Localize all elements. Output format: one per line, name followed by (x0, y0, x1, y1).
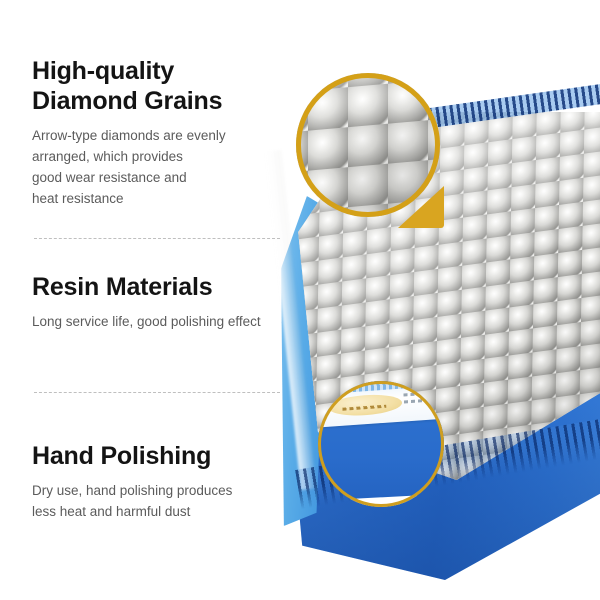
feature-body: Dry use, hand polishing produces less he… (32, 480, 280, 522)
label-text-line (404, 398, 434, 403)
feature-body: Arrow-type diamonds are evenly arranged,… (32, 125, 280, 209)
feature-block-diamond-grains: High-quality Diamond Grains Arrow-type d… (32, 56, 280, 209)
feature-block-resin-materials: Resin Materials Long service life, good … (32, 272, 280, 332)
feature-block-hand-polishing: Hand Polishing Dry use, hand polishing p… (32, 441, 280, 522)
feature-text-column: High-quality Diamond Grains Arrow-type d… (0, 0, 300, 600)
label-text-line (403, 391, 441, 397)
feature-heading: High-quality Diamond Grains (32, 56, 280, 116)
callout-grain-closeup (296, 73, 440, 217)
feature-heading: Hand Polishing (32, 441, 280, 471)
magnifier-gloss (296, 73, 440, 217)
section-divider (34, 238, 280, 239)
section-divider (34, 392, 280, 393)
callout-foam-label-closeup (318, 381, 444, 507)
infographic-canvas: High-quality Diamond Grains Arrow-type d… (0, 0, 600, 600)
feature-body: Long service life, good polishing effect (32, 311, 280, 332)
feature-heading: Resin Materials (32, 272, 280, 302)
